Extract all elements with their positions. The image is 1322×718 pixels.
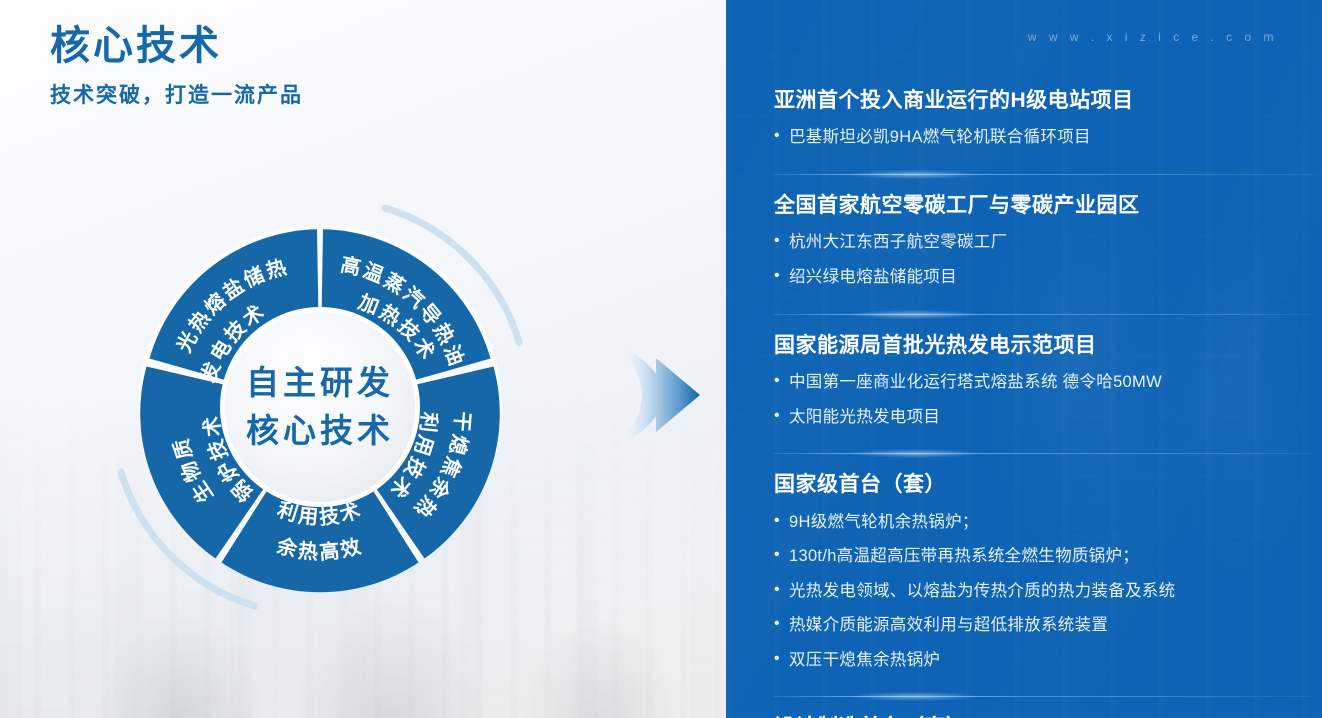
section-heading: 国家能源局首批光热发电示范项目 [774, 331, 1314, 361]
section-zero-carbon: 全国首家航空零碳工厂与零碳产业园区 杭州大江东西子航空零碳工厂 绍兴绿电熔盐储能… [774, 191, 1314, 304]
title-block: 核心技术 技术突破，打造一流产品 [50, 22, 303, 109]
section-national-first-set: 国家级首台（套） 9H级燃气轮机余热锅炉； 130t/h高温超高压带再热系统全燃… [774, 470, 1314, 686]
section-divider [774, 314, 1314, 315]
section-heading: 国家级首台（套） [774, 470, 1314, 500]
donut-center-disc [225, 312, 415, 502]
achievements-list: 亚洲首个投入商业运行的H级电站项目 巴基斯坦必凯9HA燃气轮机联合循环项目 全国… [774, 86, 1314, 718]
left-panel: 核心技术 技术突破，打造一流产品 [0, 0, 726, 718]
section-divider [774, 453, 1314, 454]
section-bullets: 9H级燃气轮机余热锅炉； 130t/h高温超高压带再热系统全燃生物质锅炉； 光热… [774, 510, 1314, 674]
section-divider [774, 696, 1314, 697]
section-bullets: 中国第一座商业化运行塔式熔盐系统 德令哈50MW 太阳能光热发电项目 [774, 370, 1314, 430]
section-design-manufacture-first-set: 设计制造首台（套） 国内首台超高压带再热垃圾焚烧余热锅炉 [774, 713, 1314, 718]
core-technology-donut: 光热熔盐储热 发电技术 高温蒸汽导热油 加热技术 干熄焦余热 利用技术 [85, 172, 555, 642]
section-divider [774, 174, 1314, 175]
page-title: 核心技术 [50, 22, 303, 71]
list-item: 热媒介质能源高效利用与超低排放系统装置 [774, 613, 1314, 639]
list-item: 9H级燃气轮机余热锅炉； [774, 510, 1314, 536]
section-h-class-plant: 亚洲首个投入商业运行的H级电站项目 巴基斯坦必凯9HA燃气轮机联合循环项目 [774, 86, 1314, 164]
section-heading: 设计制造首台（套） [774, 713, 1314, 718]
list-item: 巴基斯坦必凯9HA燃气轮机联合循环项目 [774, 125, 1314, 151]
watermark: w w w . x i z i c e . c o m [1028, 30, 1278, 44]
list-item: 130t/h高温超高压带再热系统全燃生物质锅炉； [774, 544, 1314, 570]
donut-svg: 光热熔盐储热 发电技术 高温蒸汽导热油 加热技术 干熄焦余热 利用技术 [85, 172, 555, 642]
list-item: 杭州大江东西子航空零碳工厂 [774, 230, 1314, 256]
list-item: 中国第一座商业化运行塔式熔盐系统 德令哈50MW [774, 370, 1314, 396]
section-solar-thermal-demo: 国家能源局首批光热发电示范项目 中国第一座商业化运行塔式熔盐系统 德令哈50MW… [774, 331, 1314, 444]
slide-root: 核心技术 技术突破，打造一流产品 [0, 0, 1322, 718]
list-item: 绍兴绿电熔盐储能项目 [774, 265, 1314, 291]
right-panel: w w w . x i z i c e . c o m 亚洲首个投入商业运行的H… [726, 0, 1322, 718]
section-bullets: 巴基斯坦必凯9HA燃气轮机联合循环项目 [774, 125, 1314, 151]
list-item: 太阳能光热发电项目 [774, 405, 1314, 431]
section-heading: 亚洲首个投入商业运行的H级电站项目 [774, 86, 1314, 116]
section-bullets: 杭州大江东西子航空零碳工厂 绍兴绿电熔盐储能项目 [774, 230, 1314, 290]
page-subtitle: 技术突破，打造一流产品 [50, 79, 303, 109]
section-heading: 全国首家航空零碳工厂与零碳产业园区 [774, 191, 1314, 221]
list-item: 双压干熄焦余热锅炉 [774, 648, 1314, 674]
list-item: 光热发电领域、以熔盐为传热介质的热力装备及系统 [774, 579, 1314, 605]
arrow-right-icon [612, 340, 712, 450]
transition-arrow [612, 340, 712, 450]
